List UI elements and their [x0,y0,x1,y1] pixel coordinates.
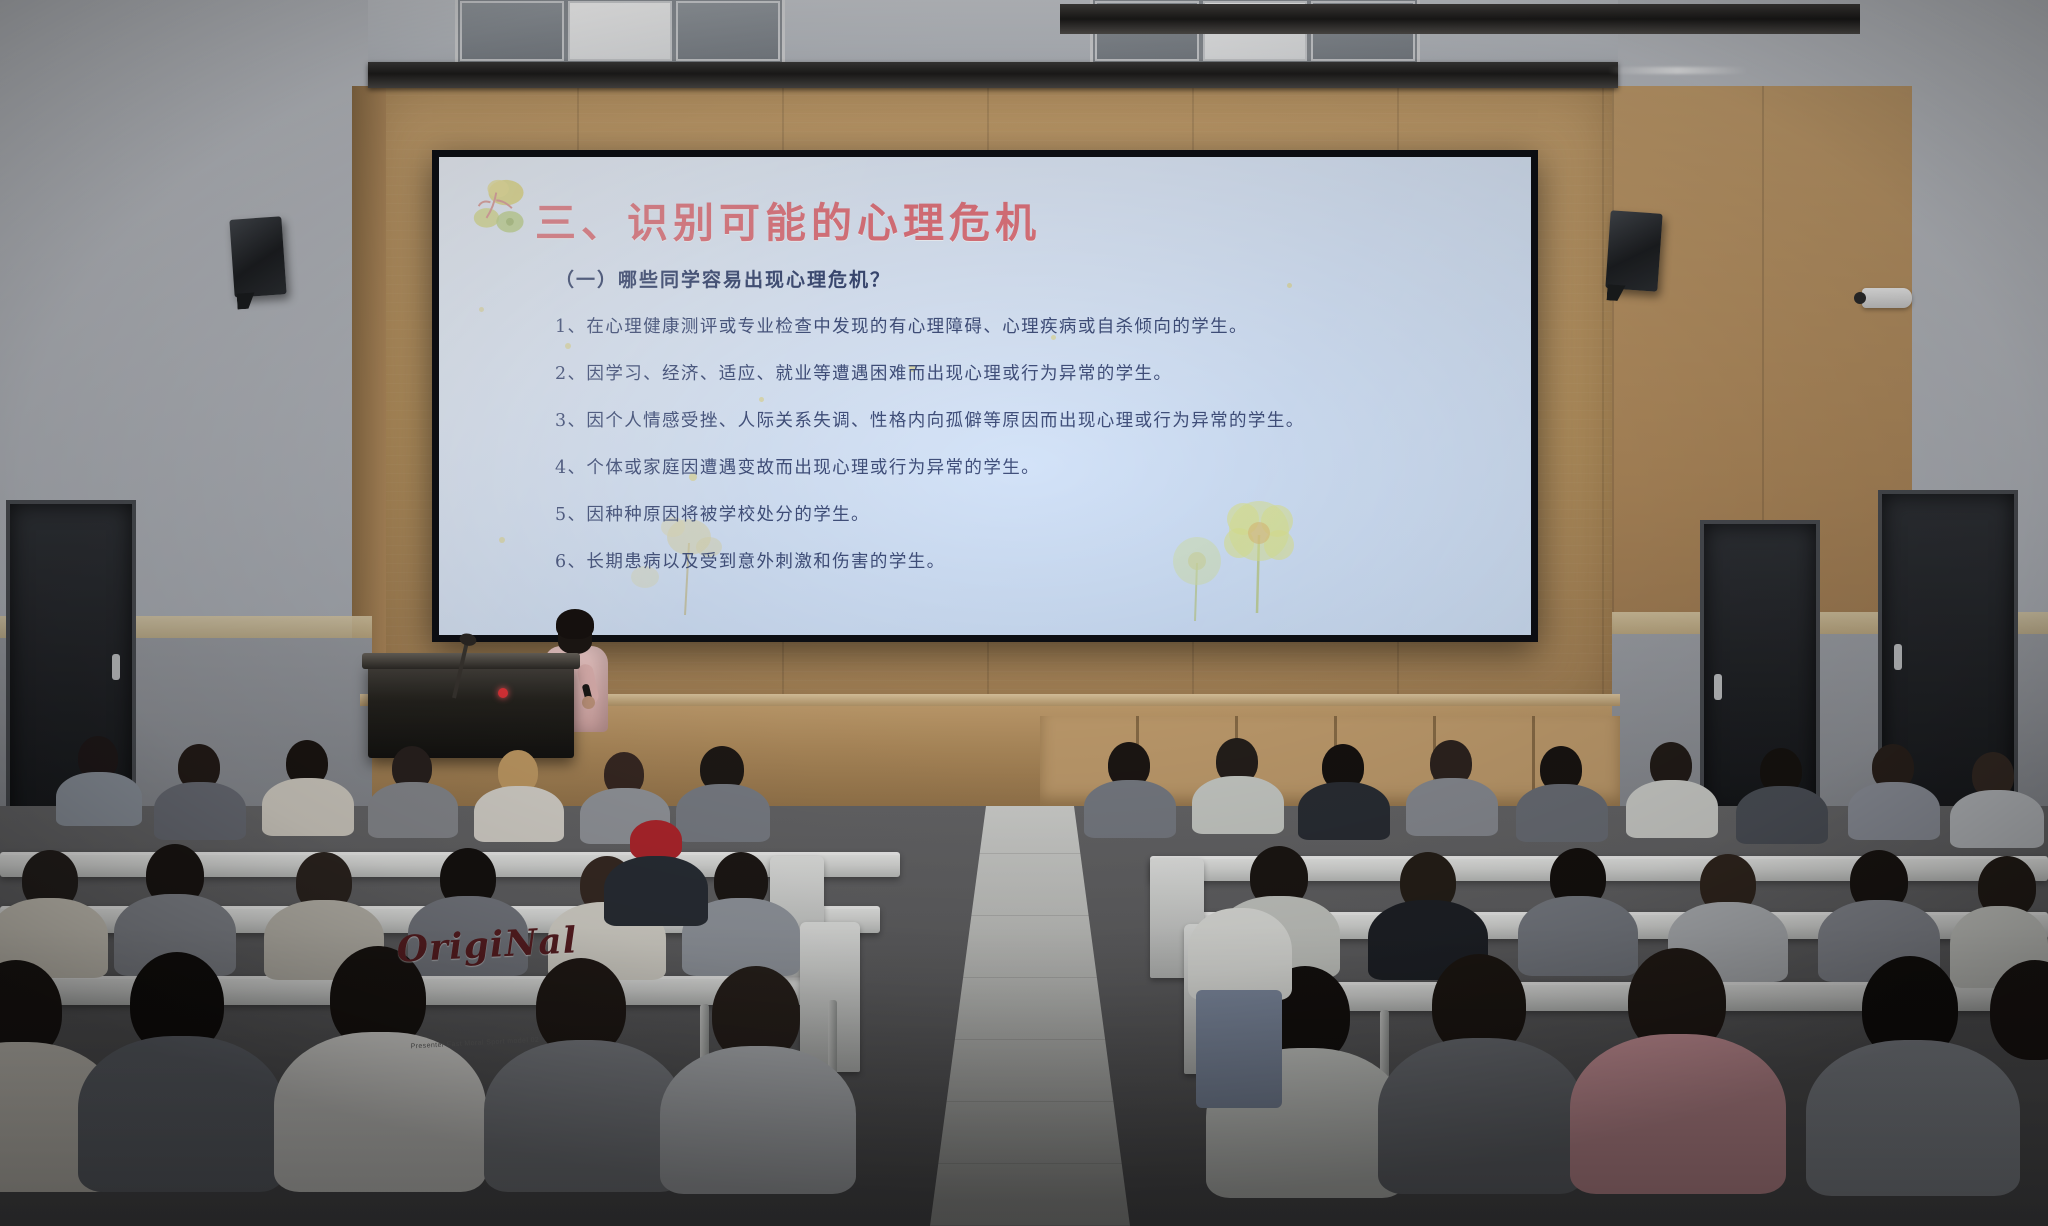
audience-shoulder [78,1036,284,1192]
slide-bullet-item: 5、因种种原因将被学校处分的学生。 [555,501,1495,526]
projection-screen: 三、识别可能的心理危机 （一）哪些同学容易出现心理危机？ 1、在心理健康测评或专… [439,157,1531,635]
audience [0,660,2048,1226]
security-camera-icon [1862,288,1912,308]
audience-shoulder [1570,1034,1786,1194]
sparkle-dot [1287,283,1292,288]
audience-shoulder [1518,896,1638,976]
ceiling-fascia-beam-right [1060,4,1860,34]
audience-head-with-cap [630,820,682,860]
audience-shoulder [274,1032,486,1192]
fascia-highlight [1608,67,1748,74]
audience-shoulder [408,896,528,976]
slide-bullet-item: 6、长期患病以及受到意外刺激和伤害的学生。 [555,548,1495,573]
audience-shoulder [676,784,770,842]
audience-shoulder [604,856,708,926]
slide-bullet-item: 4、个体或家庭因遭遇变故而出现心理或行为异常的学生。 [555,454,1495,479]
projection-screen-frame: 三、识别可能的心理危机 （一）哪些同学容易出现心理危机？ 1、在心理健康测评或专… [432,150,1538,642]
window-pane [676,1,780,61]
audience-shoulder [1848,782,1940,840]
audience-shoulder [660,1046,856,1194]
wall-speaker-right [1605,210,1662,291]
audience-shoulder [484,1040,684,1192]
presenter-hair [556,609,594,639]
audience-shoulder [1378,1038,1584,1194]
slide-bullet-item: 1、在心理健康测评或专业检查中发现的有心理障碍、心理疾病或自杀倾向的学生。 [555,313,1495,338]
audience-shoulder [1298,782,1390,840]
wall-speaker-left [229,216,286,297]
audience-shoulder [1188,908,1292,1000]
audience-shoulder [154,782,246,840]
audience-shoulder [1084,780,1176,838]
window-pane [460,1,564,61]
audience-shoulder [1626,780,1718,838]
audience-shoulder [1192,776,1284,834]
audience-shoulder [1516,784,1608,842]
slide-bullet-item: 3、因个人情感受挫、人际关系失调、性格内向孤僻等原因而出现心理或行为异常的学生。 [555,407,1495,432]
sparkle-dot [499,537,505,543]
slide-title: 三、识别可能的心理危机 [535,189,1041,249]
audience-shoulder [1406,778,1498,836]
window-pane [568,1,672,61]
audience-shoulder [1950,790,2044,848]
audience-shoulder [474,786,564,842]
clerestory-windows [455,0,785,66]
lecture-hall-photo: 三、识别可能的心理危机 （一）哪些同学容易出现心理危机？ 1、在心理健康测评或专… [0,0,2048,1226]
audience-shoulder [368,782,458,838]
audience-shoulder [1736,786,1828,844]
slide-bullet-list: 1、在心理健康测评或专业检查中发现的有心理障碍、心理疾病或自杀倾向的学生。 2、… [555,313,1495,595]
slide-bullet-item: 2、因学习、经济、适应、就业等遭遇困难而出现心理或行为异常的学生。 [555,360,1495,385]
sparkle-dot [479,307,484,312]
slide-subtitle: （一）哪些同学容易出现心理危机？ [555,265,891,292]
audience-shoulder [262,778,354,836]
audience-legs [1196,990,1282,1108]
audience-shoulder [1806,1040,2020,1196]
floral-decoration-icon [467,175,545,253]
audience-shoulder [56,772,142,826]
ceiling-fascia-beam [368,62,1618,88]
